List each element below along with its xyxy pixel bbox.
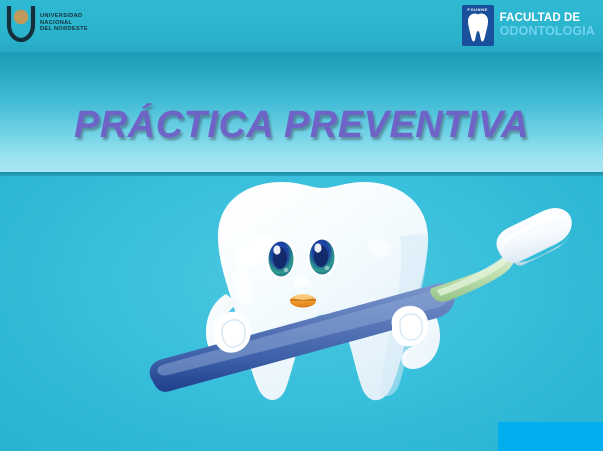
left-eye — [266, 239, 296, 279]
right-eye — [307, 237, 337, 277]
tooth-illustration — [0, 176, 603, 451]
page-title: PRÁCTICA PREVENTIVA — [0, 104, 603, 147]
odontologia-line-1: FACULTAD DE — [500, 12, 595, 25]
title-band-underline — [0, 172, 603, 176]
tooth-shield-icon: FOUNNE — [462, 5, 494, 46]
unne-u-logo-icon — [6, 4, 36, 42]
unne-logo-text: UNIVERSIDAD NACIONAL DEL NORDESTE — [40, 13, 88, 32]
shield-tooth-glyph — [466, 13, 490, 43]
unne-logo: UNIVERSIDAD NACIONAL DEL NORDESTE — [6, 2, 106, 44]
presentation-slide: PRÁCTICA PREVENTIVA UNIVERSIDAD NACIONAL… — [0, 0, 603, 451]
unne-line-1: UNIVERSIDAD — [40, 13, 88, 19]
founne-label: FOUNNE — [462, 7, 494, 12]
unne-line-3: DEL NORDESTE — [40, 26, 88, 32]
bottom-right-accent — [498, 422, 603, 451]
odontologia-line-2: ODONTOLOGIA — [500, 24, 595, 38]
odontologia-logo-text: FACULTAD DE ODONTOLOGIA — [500, 12, 595, 39]
odontologia-logo: FOUNNE FACULTAD DE ODONTOLOGIA — [462, 3, 595, 47]
